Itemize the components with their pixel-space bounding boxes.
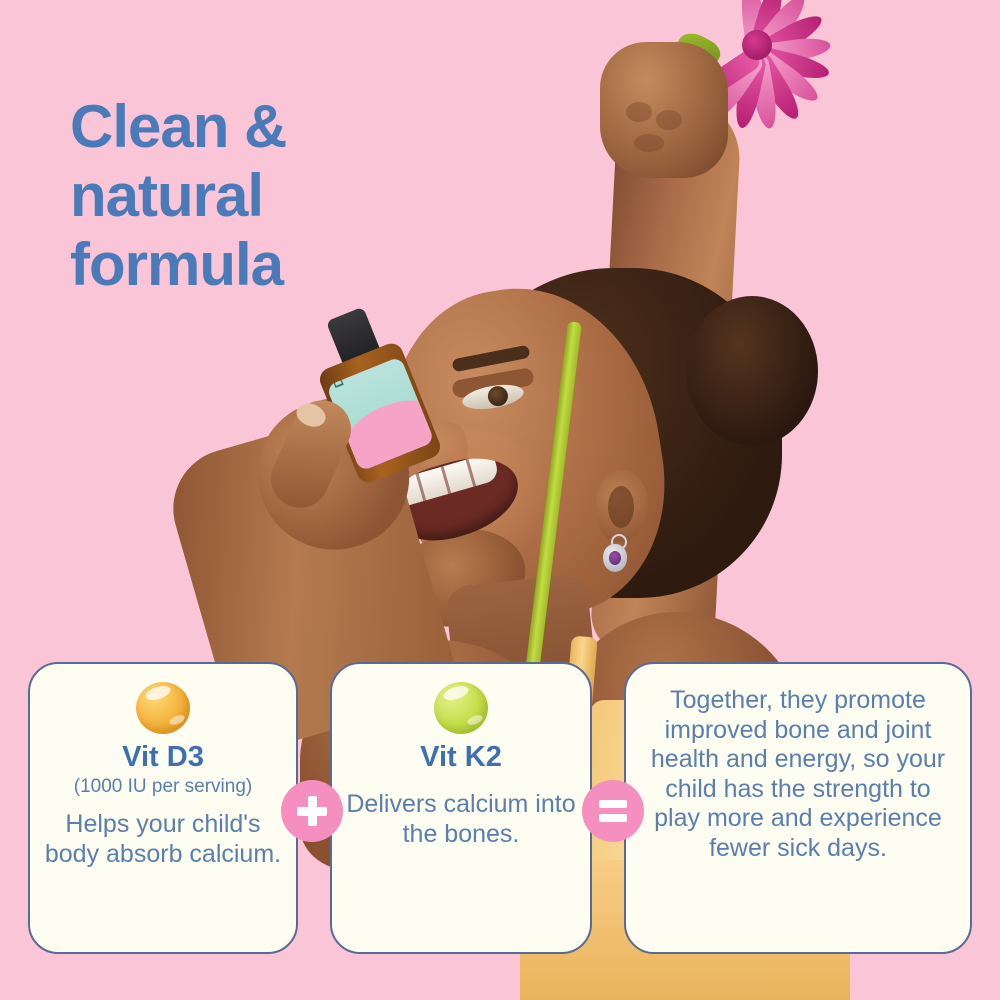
benefit-cards: Vit D3 (1000 IU per serving) Helps your … [0,662,1000,962]
benefit-card-result: Together, they promote improved bone and… [624,662,972,954]
benefit-card-vit-k2: Vit K2 Delivers calcium into the bones. [330,662,592,954]
earring-stone [609,551,621,565]
card-description: Helps your child's body absorb calcium. [44,809,282,869]
hair-puff [686,296,818,446]
ear-inner [608,486,634,528]
headline-line-3: formula [70,230,490,299]
benefit-card-vit-d3: Vit D3 (1000 IU per serving) Helps your … [28,662,298,954]
promo-image: D3 + K2 drops Clean & natural formula Vi… [0,0,1000,1000]
yellow-droplet-icon [136,682,190,734]
card-title: Vit K2 [346,740,576,774]
green-droplet-icon [434,682,488,734]
card-title: Vit D3 [44,740,282,774]
headline-line-1: Clean & [70,92,490,161]
plus-badge [281,780,343,842]
flower-center [742,30,772,60]
card-description: Together, they promote improved bone and… [640,680,956,863]
equals-icon [599,800,627,808]
card-subtitle: (1000 IU per serving) [44,775,282,799]
headline-line-2: natural [70,161,490,230]
hand-gripping-stem [600,42,728,178]
page-title: Clean & natural formula [70,92,490,299]
card-description: Delivers calcium into the bones. [346,775,576,849]
equals-badge [582,780,644,842]
